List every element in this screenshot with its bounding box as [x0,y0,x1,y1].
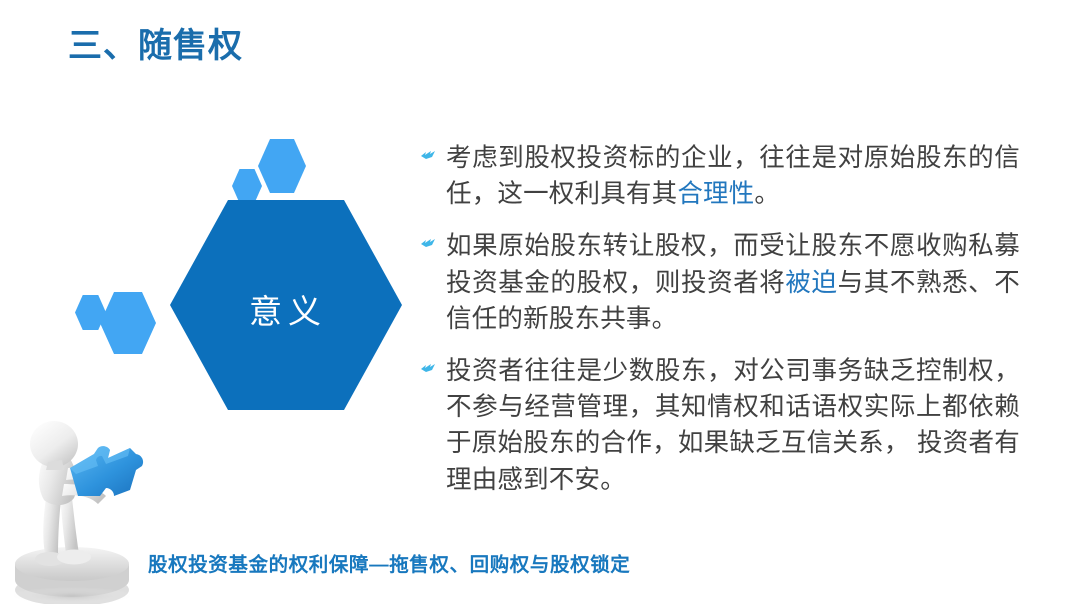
list-item: 如果原始股东转让股权，而受让股东不愿收购私募投资基金的股权，则投资者将被迫与其不… [420,228,1020,337]
bullet-list: 考虑到股权投资标的企业，往往是对原始股东的信任，这一权利具有其合理性。 如果原始… [420,140,1020,514]
bullet-text: 投资者往往是少数股东，对公司事务缺乏控制权，不参与经营管理，其知情权和话语权实际… [446,353,1020,498]
puzzle-piece-icon [70,446,143,496]
bullet-highlight: 被迫 [785,269,837,297]
figure-leg-front [60,496,79,554]
bullet-text: 考虑到股权投资标的企业，往往是对原始股东的信任，这一权利具有其合理性。 [446,140,1020,212]
accent-hex-top-small-icon [232,169,262,203]
bullet-marker-icon [420,353,446,377]
mannequin-figure-illustration [2,404,167,604]
bullet-highlight: 合理性 [677,180,754,208]
footer-caption: 股权投资基金的权利保障—拖售权、回购权与股权锁定 [148,548,630,577]
list-item: 投资者往往是少数股东，对公司事务缺乏控制权，不参与经营管理，其知情权和话语权实际… [420,353,1020,498]
accent-hex-left-large-icon [100,292,156,354]
slide-canvas: 三、随售权 意义 [0,0,1080,608]
accent-hex-left-small-icon [75,295,106,330]
accent-hex-top-large-icon [258,139,306,193]
bullet-text: 如果原始股东转让股权，而受让股东不愿收购私募投资基金的股权，则投资者将被迫与其不… [446,228,1020,337]
list-item: 考虑到股权投资标的企业，往往是对原始股东的信任，这一权利具有其合理性。 [420,140,1020,212]
bullet-marker-icon [420,140,446,164]
bullet-text-segment: 投资者往往是少数股东，对公司事务缺乏控制权，不参与经营管理，其知情权和话语权实际… [446,357,1020,494]
figure-head [30,421,78,467]
bullet-text-segment: 。 [754,180,780,208]
main-hexagon-shape [170,200,402,410]
bullet-marker-icon [420,228,446,252]
figure-foot-front [57,550,91,565]
page-title: 三、随售权 [68,26,243,67]
